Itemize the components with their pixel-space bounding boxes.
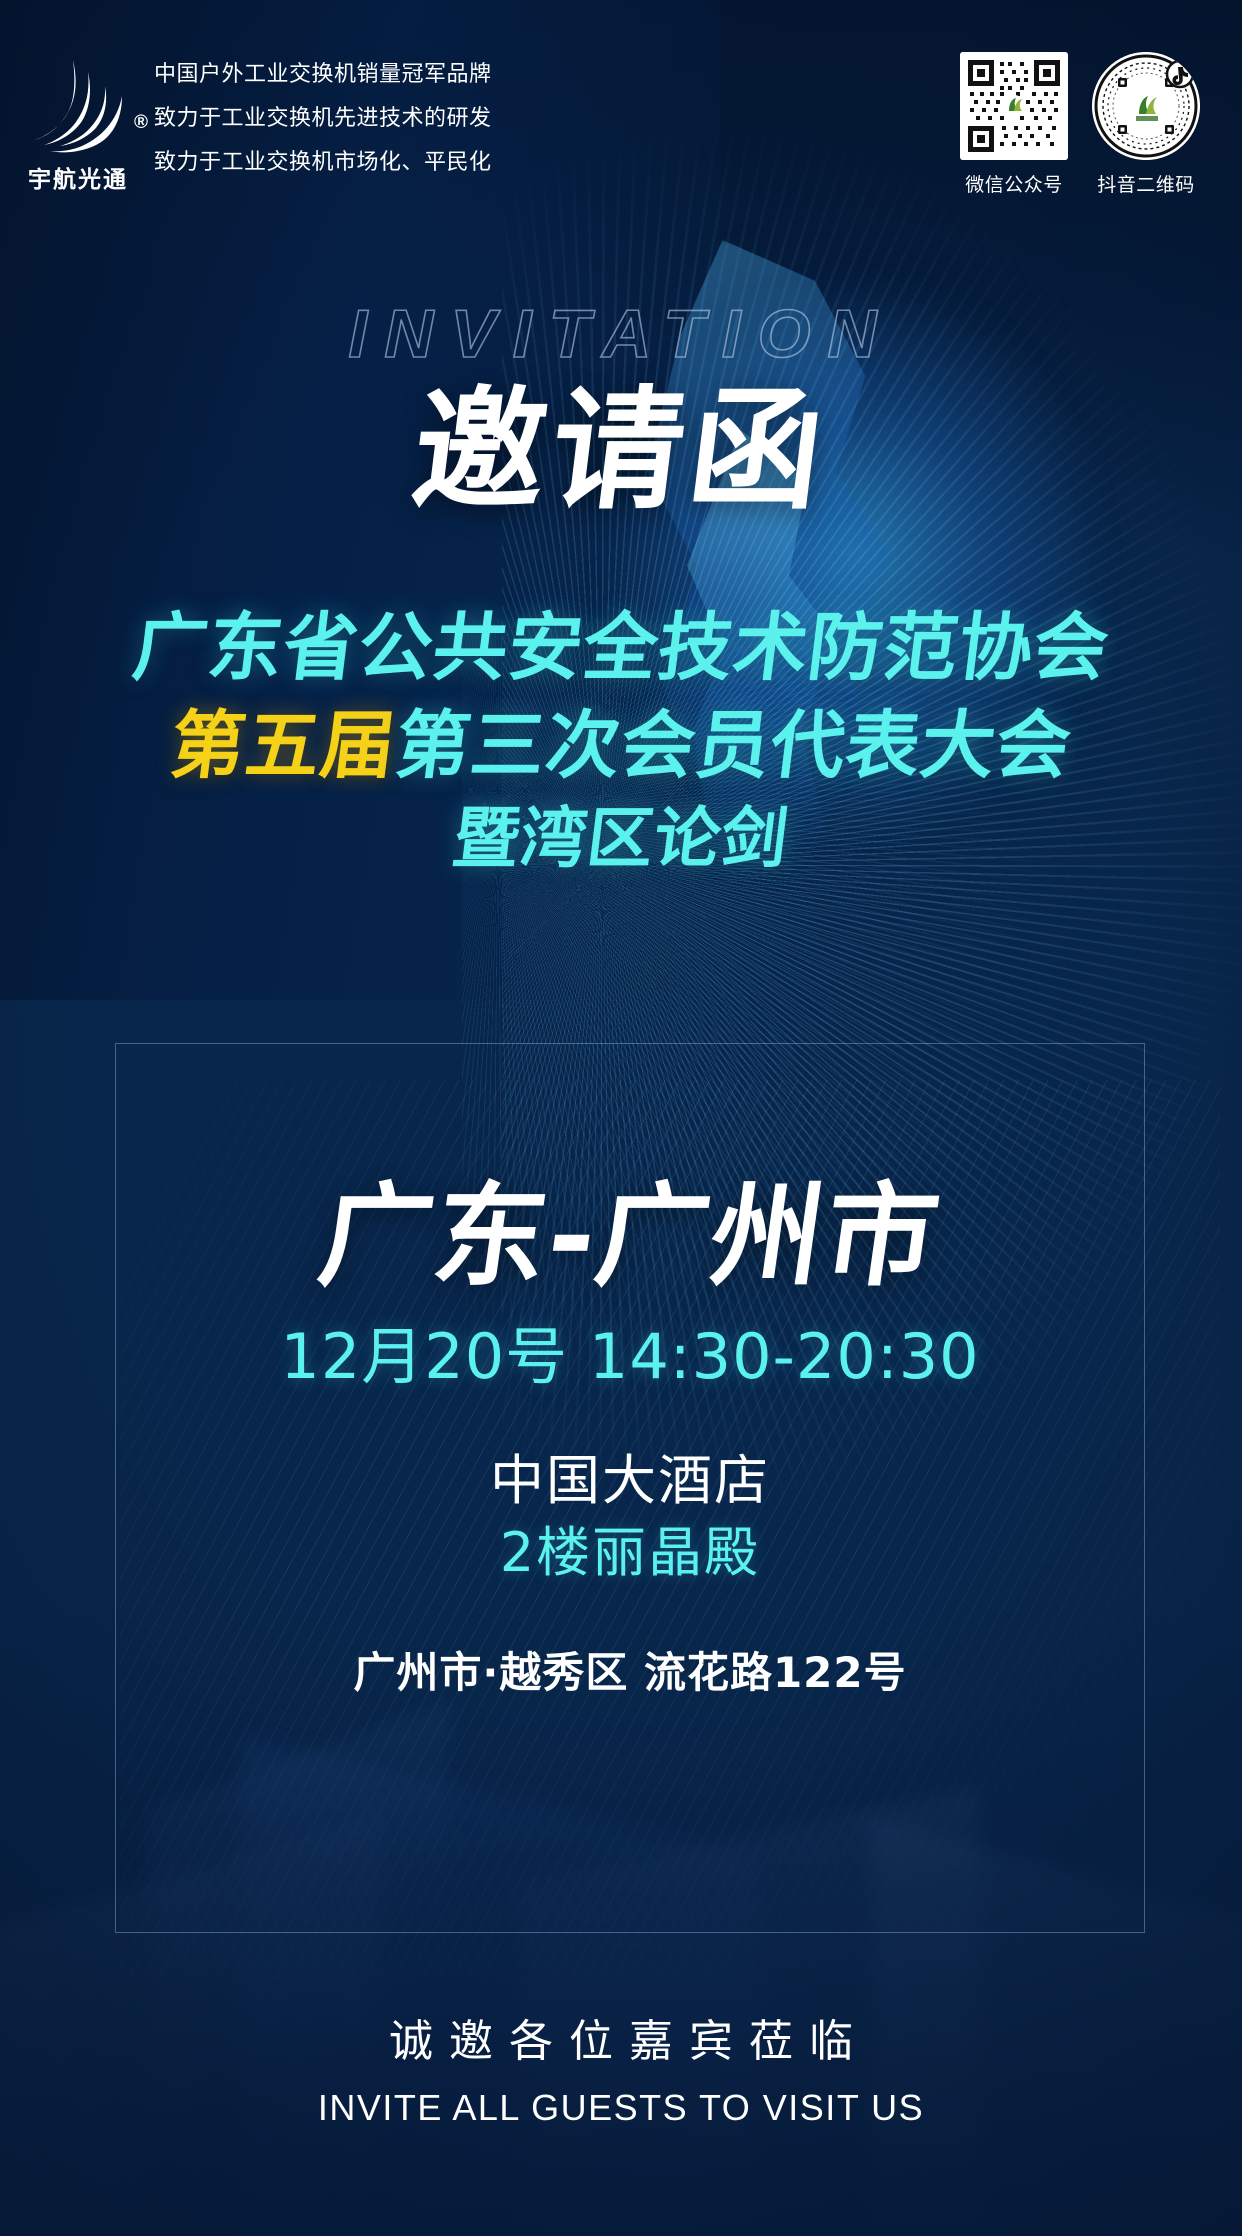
wechat-qr-caption: 微信公众号 <box>960 170 1068 197</box>
hero-title-block: INVITATION 邀请函 <box>0 300 1242 530</box>
event-address: 广州市·越秀区 流花路122号 <box>116 1652 1144 1694</box>
event-info-inner: 广东-广州市 12月20号 14:30-20:30 中国大酒店 2楼丽晶殿 广州… <box>116 1044 1144 1932</box>
headline-line-3: 暨湾区论剑 <box>0 795 1242 882</box>
registered-mark: ® <box>134 112 148 134</box>
brand-name: 宇航光通 <box>28 160 146 194</box>
douyin-qr-caption: 抖音二维码 <box>1092 170 1200 197</box>
headline-highlight: 第五届 <box>166 703 402 789</box>
event-info-box: 广东-广州市 12月20号 14:30-20:30 中国大酒店 2楼丽晶殿 广州… <box>115 1043 1145 1933</box>
poster-footer: 诚邀各位嘉宾莅临 INVITE ALL GUESTS TO VISIT US <box>0 2020 1242 2126</box>
headline-line-2: 第五届第三次会员代表大会 <box>0 698 1242 796</box>
flame-logo-icon: ® 宇航光通 <box>26 56 138 206</box>
event-venue: 中国大酒店 <box>116 1454 1144 1508</box>
brand-block: ® 宇航光通 中国户外工业交换机销量冠军品牌 致力于工业交换机先进技术的研发 致… <box>26 56 492 206</box>
qr-code-group: 微信公众号 <box>960 52 1200 197</box>
event-datetime: 12月20号 14:30-20:30 <box>116 1326 1144 1388</box>
footer-english-text: INVITE ALL GUESTS TO VISIT US <box>0 2090 1242 2126</box>
poster-header: ® 宇航光通 中国户外工业交换机销量冠军品牌 致力于工业交换机先进技术的研发 致… <box>0 0 1242 210</box>
headline-line-2-rest: 第三次会员代表大会 <box>391 703 1077 789</box>
brand-tagline-1: 中国户外工业交换机销量冠军品牌 <box>154 64 492 86</box>
event-hall: 2楼丽晶殿 <box>116 1526 1144 1580</box>
hero-english-title: INVITATION <box>0 300 1242 368</box>
hero-chinese-title: 邀请函 <box>0 374 1242 530</box>
wechat-qr-icon[interactable] <box>960 52 1068 160</box>
invitation-poster: ® 宇航光通 中国户外工业交换机销量冠军品牌 致力于工业交换机先进技术的研发 致… <box>0 0 1242 2236</box>
headline-line-1: 广东省公共安全技术防范协会 <box>0 600 1242 698</box>
wechat-qr-item[interactable]: 微信公众号 <box>960 52 1068 197</box>
event-city: 广东-广州市 <box>108 1181 1152 1293</box>
douyin-qr-icon[interactable] <box>1092 52 1200 160</box>
brand-tagline-3: 致力于工业交换机市场化、平民化 <box>154 152 492 174</box>
douyin-qr-item[interactable]: 抖音二维码 <box>1092 52 1200 197</box>
brand-tagline-2: 致力于工业交换机先进技术的研发 <box>154 108 492 130</box>
event-headline-block: 广东省公共安全技术防范协会 第五届第三次会员代表大会 暨湾区论剑 <box>0 600 1242 882</box>
brand-taglines: 中国户外工业交换机销量冠军品牌 致力于工业交换机先进技术的研发 致力于工业交换机… <box>154 56 492 174</box>
footer-chinese-text: 诚邀各位嘉宾莅临 <box>0 2020 1242 2064</box>
